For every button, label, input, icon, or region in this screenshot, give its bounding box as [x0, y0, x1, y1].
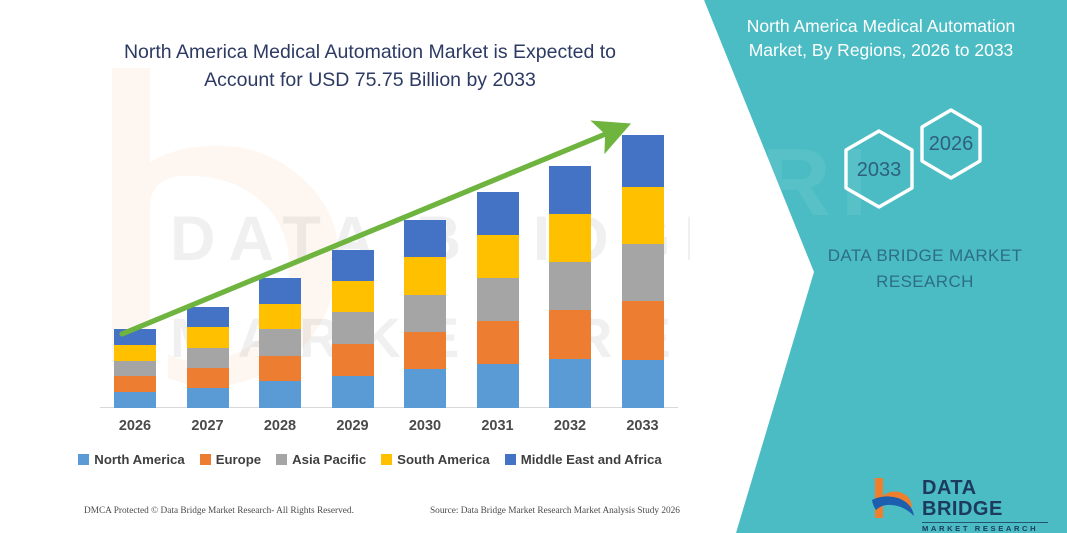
x-axis-line — [100, 407, 678, 408]
svg-text:2033: 2033 — [857, 159, 902, 181]
bar-segment[interactable] — [549, 359, 591, 408]
legend-item[interactable]: Middle East and Africa — [505, 452, 662, 467]
bar-segment[interactable] — [259, 356, 301, 382]
bar-segment[interactable] — [187, 327, 229, 347]
watermark-line-2: MARKET RESEARCH — [170, 292, 740, 384]
bar-segment[interactable] — [332, 312, 374, 344]
footer-copyright: DMCA Protected © Data Bridge Market Rese… — [84, 506, 354, 516]
hexagon-2033: 2033 — [846, 131, 912, 207]
stacked-bar[interactable] — [332, 250, 374, 408]
company-logo: DATA BRIDGE MARKET RESEARCH — [868, 474, 1053, 522]
bar-segment[interactable] — [259, 381, 301, 408]
x-axis-label: 2026 — [100, 418, 170, 434]
bar-segment[interactable] — [622, 244, 664, 302]
stacked-bar[interactable] — [549, 166, 591, 408]
bar-segment[interactable] — [477, 235, 519, 279]
chart-legend: North AmericaEuropeAsia PacificSouth Ame… — [0, 452, 740, 467]
bar-segment[interactable] — [114, 329, 156, 344]
x-axis-label: 2030 — [390, 418, 460, 434]
legend-swatch-icon — [505, 454, 516, 465]
bar-segment[interactable] — [477, 364, 519, 408]
x-axis-label: 2031 — [463, 418, 533, 434]
bar-group — [100, 120, 680, 408]
bar-segment[interactable] — [187, 368, 229, 388]
panel-brand-line-2: RESEARCH — [800, 269, 1050, 295]
panel-title: North America Medical Automation Market,… — [716, 14, 1046, 62]
watermark-line-1: DATA BRIDGE — [170, 188, 740, 292]
legend-item[interactable]: Asia Pacific — [276, 452, 366, 467]
bar-slot — [318, 120, 388, 408]
legend-swatch-icon — [200, 454, 211, 465]
legend-item[interactable]: South America — [381, 452, 490, 467]
bar-segment[interactable] — [114, 361, 156, 377]
bar-segment[interactable] — [622, 360, 664, 408]
legend-swatch-icon — [78, 454, 89, 465]
infographic-root: DATA BRIDGE MARKET RESEARCH North Americ… — [0, 0, 1067, 533]
bar-segment[interactable] — [622, 301, 664, 360]
bar-segment[interactable] — [259, 329, 301, 356]
brand-watermark: DATA BRIDGE MARKET RESEARCH — [170, 188, 740, 384]
bar-segment[interactable] — [114, 376, 156, 392]
bar-slot — [245, 120, 315, 408]
bar-segment[interactable] — [259, 304, 301, 330]
legend-swatch-icon — [381, 454, 392, 465]
legend-label: North America — [94, 452, 184, 467]
footer: DMCA Protected © Data Bridge Market Rese… — [0, 506, 720, 526]
bar-segment[interactable] — [622, 187, 664, 244]
panel-brand-line-1: DATA BRIDGE MARKET — [800, 243, 1050, 269]
data-bridge-logo-icon — [868, 476, 920, 520]
legend-label: Asia Pacific — [292, 452, 366, 467]
bar-segment[interactable] — [404, 332, 446, 369]
stacked-bar[interactable] — [114, 329, 156, 408]
stacked-bar[interactable] — [259, 278, 301, 408]
x-axis-label: 2029 — [318, 418, 388, 434]
bar-slot — [535, 120, 605, 408]
bar-slot — [173, 120, 243, 408]
x-axis-label: 2033 — [608, 418, 678, 434]
bar-segment[interactable] — [259, 278, 301, 304]
bar-segment[interactable] — [549, 262, 591, 310]
hexagon-2026: 2026 — [922, 110, 980, 178]
x-axis-label: 2027 — [173, 418, 243, 434]
footer-source: Source: Data Bridge Market Research Mark… — [430, 506, 680, 516]
legend-item[interactable]: Europe — [200, 452, 261, 467]
logo-name: DATA BRIDGE — [922, 478, 1052, 520]
legend-label: Europe — [216, 452, 261, 467]
bar-segment[interactable] — [332, 250, 374, 281]
bar-segment[interactable] — [549, 310, 591, 359]
bar-segment[interactable] — [549, 166, 591, 214]
bar-segment[interactable] — [114, 392, 156, 408]
chart-panel: DATA BRIDGE MARKET RESEARCH North Americ… — [0, 0, 740, 533]
bar-segment[interactable] — [477, 278, 519, 320]
svg-text:RE: RE — [690, 348, 795, 413]
logo-tagline: MARKET RESEARCH — [922, 525, 1052, 533]
legend-item[interactable]: North America — [78, 452, 184, 467]
bar-slot — [463, 120, 533, 408]
bar-slot — [390, 120, 460, 408]
legend-swatch-icon — [276, 454, 287, 465]
bar-segment[interactable] — [404, 257, 446, 294]
hexagon-badges: 2026 2033 — [810, 92, 1040, 222]
bar-slot — [608, 120, 678, 408]
blob-watermark-icon — [72, 58, 372, 388]
x-axis-labels: 20262027202820292030203120322033 — [100, 418, 680, 442]
bar-segment[interactable] — [114, 345, 156, 361]
panel-brand-text: DATA BRIDGE MARKET RESEARCH — [800, 243, 1050, 294]
bar-segment[interactable] — [549, 214, 591, 262]
legend-label: South America — [397, 452, 490, 467]
svg-text:2026: 2026 — [929, 133, 974, 155]
bar-segment[interactable] — [332, 376, 374, 408]
bar-segment[interactable] — [332, 344, 374, 376]
stacked-bar[interactable] — [187, 307, 229, 408]
x-axis-label: 2032 — [535, 418, 605, 434]
legend-label: Middle East and Africa — [521, 452, 662, 467]
stacked-bar[interactable] — [477, 192, 519, 408]
logo-wordmark: DATA BRIDGE MARKET RESEARCH — [922, 478, 1052, 533]
bar-segment[interactable] — [332, 281, 374, 312]
x-axis-label: 2028 — [245, 418, 315, 434]
bar-segment[interactable] — [404, 220, 446, 257]
bar-segment[interactable] — [477, 321, 519, 365]
bar-segment[interactable] — [477, 192, 519, 235]
stacked-bar[interactable] — [622, 135, 664, 408]
bar-segment[interactable] — [404, 369, 446, 408]
bar-slot — [100, 120, 170, 408]
stacked-bar[interactable] — [404, 220, 446, 408]
bar-segment[interactable] — [187, 348, 229, 368]
chart-title: North America Medical Automation Market … — [90, 38, 650, 95]
bar-segment[interactable] — [404, 295, 446, 332]
logo-divider — [922, 522, 1048, 523]
bar-segment[interactable] — [622, 135, 664, 187]
bar-segment[interactable] — [187, 388, 229, 408]
bar-segment[interactable] — [187, 307, 229, 328]
